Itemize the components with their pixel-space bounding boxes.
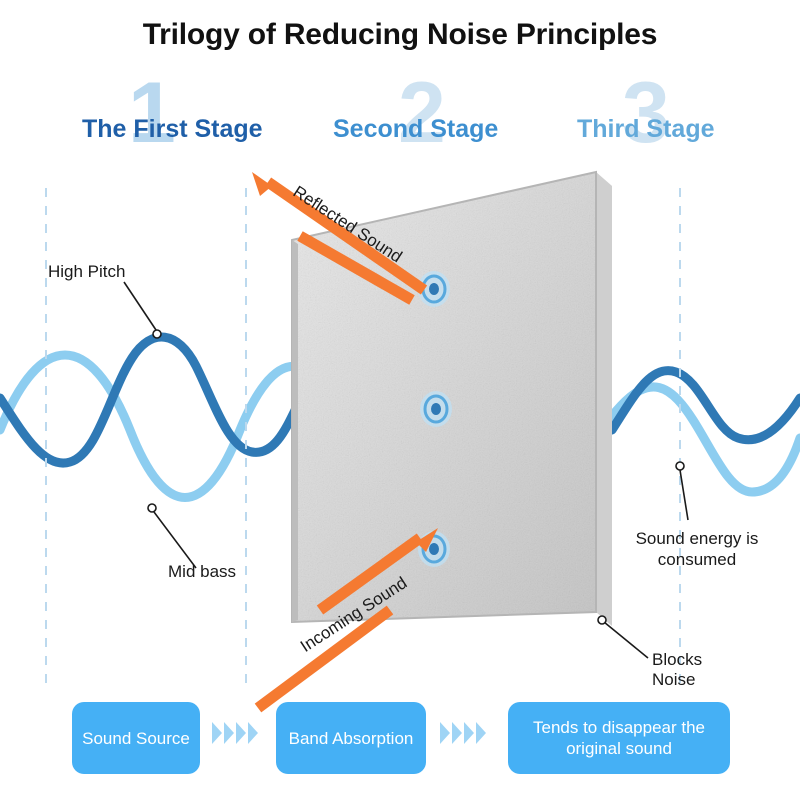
stage-label-1: The First Stage <box>82 115 263 144</box>
page-title: Trilogy of Reducing Noise Principles <box>0 18 800 52</box>
annotation-sound-energy: Sound energy is consumed <box>622 528 772 570</box>
annotation-mid-bass: Mid bass <box>168 562 236 582</box>
flow-step-sound-source[interactable]: Sound Source <box>72 702 200 774</box>
stage-label-2: Second Stage <box>333 115 498 144</box>
flow-step-band-absorption[interactable]: Band Absorption <box>276 702 426 774</box>
annotation-blocks-noise: Blocks Noise <box>652 650 732 690</box>
stage-label-3: Third Stage <box>577 115 715 144</box>
chevrons-right-icon-2 <box>440 722 486 744</box>
chevrons-right-icon-1 <box>212 722 258 744</box>
acoustic-panel <box>292 172 612 626</box>
flow-step-tends-to-disappear[interactable]: Tends to disappear the original sound <box>508 702 730 774</box>
annotation-high-pitch: High Pitch <box>48 262 125 282</box>
